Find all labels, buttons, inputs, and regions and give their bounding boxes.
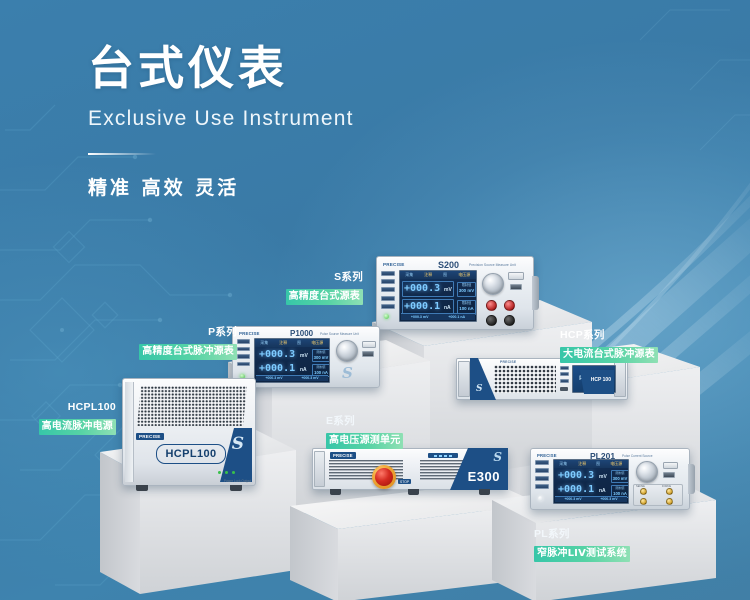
callout-p-series-name: P系列 [112,325,237,339]
s-screen-tabs[interactable]: 采集 注释 图 电压源 [400,271,476,279]
hcpl-left-panel [125,382,134,482]
callout-s-series: S系列 高精度台式源表 [248,270,363,306]
hcpl-footer-note: Power Lock Output [224,479,251,483]
page-title-cn: 台式仪表 [88,42,354,95]
pl-footer-0: +000.3 mV [564,497,581,501]
hcp-s-logo: S [476,384,483,394]
pl-readout-0: +000.3 [558,470,594,481]
s-jack-force-hi[interactable] [486,300,497,311]
hcp-brand: PRECISE [500,360,516,364]
hcpl-model: HCPL100 [165,448,216,460]
s-jack-sense-lo[interactable] [504,315,515,326]
p-side-buttons[interactable] [237,339,250,366]
hcpl-foot-right [230,485,242,491]
pl-side-handle [688,464,695,494]
s-footer-0: +000.3 mV [411,315,429,319]
e-s-logo: S [493,450,502,464]
pl-jack-label-sense: SENSE [636,485,645,488]
pl-unit-1: nA [599,488,606,494]
s-screen-footer: +000.3 mV +000.1 nA [401,313,475,320]
callout-pl-series: PL系列 窄脉冲LIV测试系统 [534,527,630,563]
s-side-handle [532,276,539,310]
p-limit-0: 限制值 300 mV [312,349,330,362]
s-tab-0[interactable]: 采集 [406,272,414,278]
pl-jack-label-force: FORCE [662,485,671,488]
instrument-s-series[interactable]: PRECISE S200 Precision Source Measure Un… [376,256,534,330]
hcp-usb-port[interactable] [560,387,568,391]
s-unit-0: mV [444,287,452,293]
s-tab-1[interactable]: 注释 [425,272,433,278]
e-foot-right [479,489,490,495]
pl-usb-port[interactable] [663,472,675,478]
pl-jack-force-lo[interactable] [666,498,673,505]
e-foot-left [330,489,341,495]
e-rack-ear-left [314,451,325,487]
hcpl-foot-left [136,485,148,491]
s-jack-sense-hi[interactable] [504,300,515,311]
hcp-accent-wedge [470,358,496,400]
p-usb-port[interactable] [362,351,374,357]
instrument-hcpl100[interactable]: PRECISE S HCPL100 Power Lock Output [122,378,256,486]
hcpl-model-plate: HCPL100 [156,444,226,464]
hcp-control-buttons[interactable] [560,366,569,383]
pl-footer-1: +000.3 mV [600,497,617,501]
hcpl-s-logo: S [232,434,244,454]
pl-limit-0: 限制值 300 mV [611,470,629,483]
callout-hcpl100-name: HCPL100 [16,400,116,414]
pl-tab-3[interactable]: 电压源 [611,461,623,467]
p-screen-footer: +000.3 mV +000.3 mV [256,375,328,382]
pl-brand: PRECISE [537,453,557,458]
hcpl-brand: PRECISE [136,433,164,440]
p-model: P1000 [290,329,313,338]
pl-output-button[interactable] [663,462,678,469]
s-screen[interactable]: 采集 注释 图 电压源 +000.3 mV +000.1 nA 限制值 300 … [399,270,477,322]
s-tab-2[interactable]: 图 [443,272,447,278]
pl-screen[interactable]: 采集 注释 图 电压源 +000.3 mV +000.1 nA 限制值 300 … [553,459,629,504]
pl-rotary-knob[interactable] [636,461,658,483]
callout-s-series-name: S系列 [248,270,363,284]
s-limit-0: 限制值 300 mV [457,282,476,297]
pl-limit-0-value: 300 mV [612,476,628,481]
instrument-e-series[interactable]: PRECISE [312,448,508,490]
callout-p-series-desc: 高精度台式脉冲源表 [139,344,237,360]
title-divider [88,153,156,155]
pl-jack-force-hi[interactable] [666,488,673,495]
p-limit-0-value: 300 mV [313,355,329,360]
p-screen[interactable]: 采集 注释 图 电压源 +000.3 mV +000.1 nA 限制值 300 … [254,338,330,383]
page-tagline: 精准 高效 灵活 [88,173,354,200]
p-tab-0[interactable]: 采集 [260,340,268,346]
pl-jack-sense-lo[interactable] [640,498,647,505]
pl-screen-footer: +000.3 mV +000.3 mV [555,496,627,503]
instrument-pl-series[interactable]: PRECISE PL201 Pulse Current Source 采集 注释… [530,448,690,510]
callout-s-series-desc: 高精度台式源表 [286,289,363,305]
callout-hcp-series: HCP系列 大电流台式脉冲源表 [560,328,658,364]
p-tab-2[interactable]: 图 [297,340,301,346]
hcp-model-badge: HCP 100 [591,377,611,383]
pl-jack-sense-hi[interactable] [640,488,647,495]
p-readout-1: +000.1 [259,363,295,374]
pl-tab-1[interactable]: 注释 [578,461,586,467]
p-unit-0: mV [300,353,308,359]
hcp-vent-grille [494,365,556,393]
p-s-logo: S [342,364,353,382]
p-screen-tabs[interactable]: 采集 注释 图 电压源 [255,339,329,347]
e-model: E300 [468,469,500,484]
callout-hcpl100: HCPL100 高电流脉冲电源 [16,400,116,436]
s-power-led [384,314,389,319]
p-readout-0: +000.3 [259,349,295,360]
p-rotary-knob[interactable] [336,340,358,362]
pl-side-buttons[interactable] [535,460,549,489]
pl-subtitle: Pulse Current Source [622,454,652,458]
s-footer-1: +000.1 nA [448,315,465,319]
s-model: S200 [438,260,459,270]
s-limit-1-value: 100 nA [458,306,475,311]
pl-readout-1: +000.1 [558,484,594,495]
s-side-buttons[interactable] [381,271,395,309]
callout-pl-series-desc: 窄脉冲LIV测试系统 [534,546,630,562]
callout-p-series: P系列 高精度台式脉冲源表 [112,325,237,361]
s-jack-force-lo[interactable] [486,315,497,326]
p-output-button[interactable] [362,341,376,348]
callout-e-series: E系列 高电压源测单元 [326,414,403,450]
e-foot-mid [408,489,419,495]
pl-tab-0[interactable]: 采集 [559,461,567,467]
e-brand: PRECISE [330,452,356,459]
p-subtitle: Pulse Source Measure Unit [320,332,359,336]
s-tab-3[interactable]: 电压源 [458,272,470,278]
s-readout-0: +000.3 [404,283,440,294]
p-brand: PRECISE [239,331,260,336]
e-emergency-stop-button[interactable] [372,465,396,489]
callout-hcp-series-name: HCP系列 [560,328,658,342]
callout-e-series-desc: 高电压源测单元 [326,433,403,449]
s-usb-port[interactable] [510,284,522,290]
p-unit-1: nA [300,367,307,373]
p-tab-3[interactable]: 电压源 [312,340,324,346]
callout-pl-series-name: PL系列 [534,527,630,541]
instrument-hcp-series[interactable]: S PRECISE HCP 100 PRECISE [456,358,628,400]
callout-hcpl100-desc: 高电流脉冲电源 [39,419,116,435]
page-title-en: Exclusive Use Instrument [88,107,354,131]
s-unit-1: nA [444,305,451,311]
s-brand: PRECISE [383,262,405,267]
hero-header: 台式仪表 Exclusive Use Instrument 精准 高效 灵活 [88,42,354,200]
pl-screen-tabs[interactable]: 采集 注释 图 电压源 [554,460,628,468]
p-footer-1: +000.3 mV [301,376,318,380]
s-subtitle: Precision Source Measure Unit [469,263,516,267]
hero-banner: 台式仪表 Exclusive Use Instrument 精准 高效 灵活 [0,0,750,600]
callout-e-series-name: E系列 [326,414,403,428]
s-output-button[interactable] [508,272,524,280]
pl-power-led [538,496,543,501]
s-readout-1: +000.1 [404,301,440,312]
pl-tab-2[interactable]: 图 [596,461,600,467]
callout-hcp-series-desc: 大电流台式脉冲源表 [560,347,658,363]
p-footer-0: +000.3 mV [265,376,282,380]
s-limit-0-value: 300 mV [458,288,475,293]
p-tab-1[interactable]: 注释 [279,340,287,346]
s-rotary-knob[interactable] [482,273,504,295]
hcp-rack-ear-left [458,361,470,397]
hcpl-vent-grille [137,386,247,426]
e-stop-label: STOP [398,479,411,484]
pl-unit-0: mV [599,474,607,480]
